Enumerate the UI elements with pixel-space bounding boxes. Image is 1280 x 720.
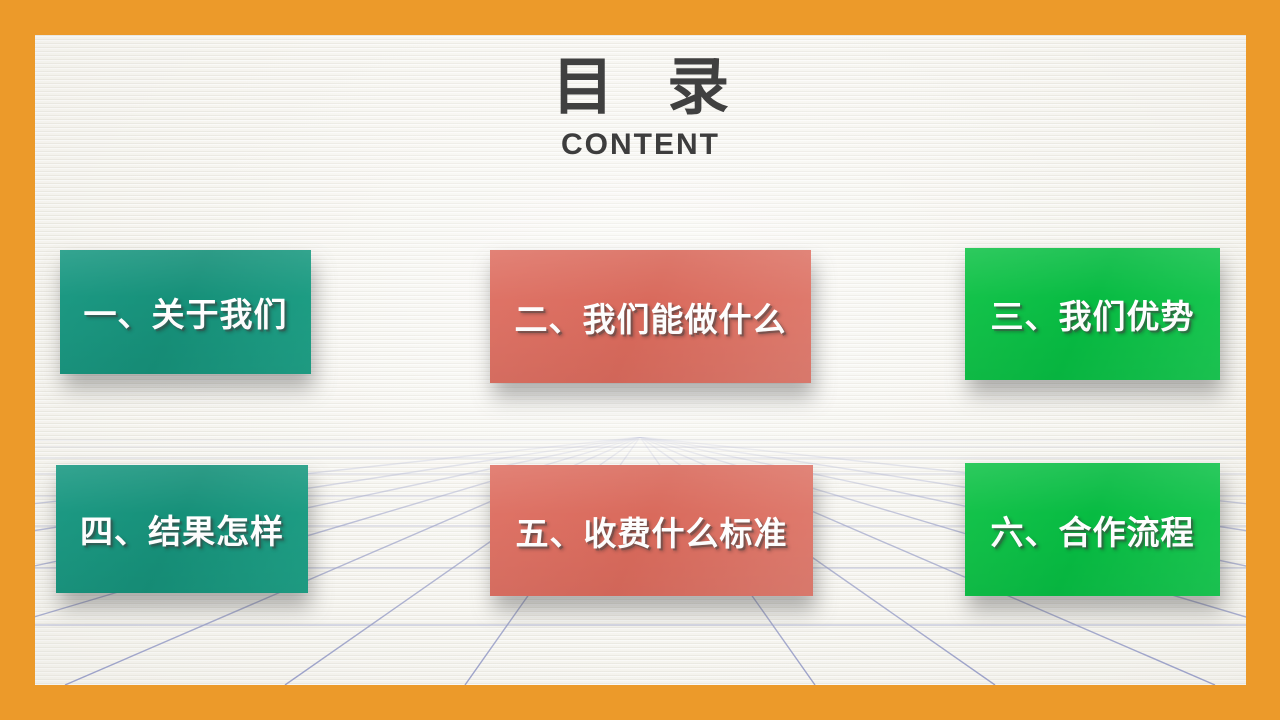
content-card-6[interactable]: 六、合作流程	[965, 463, 1220, 596]
slide-canvas: 目 录 CONTENT 一、关于我们 二、我们能做什么 三、我们优势 四、结果怎…	[35, 35, 1246, 685]
content-card-1[interactable]: 一、关于我们	[60, 250, 311, 374]
content-card-6-label: 六、合作流程	[991, 506, 1195, 554]
content-card-1-label: 一、关于我们	[84, 288, 288, 336]
content-card-2[interactable]: 二、我们能做什么	[490, 250, 811, 383]
content-card-3-label: 三、我们优势	[991, 290, 1195, 338]
page-title: 目 录	[35, 55, 1246, 120]
content-card-4[interactable]: 四、结果怎样	[56, 465, 308, 593]
content-card-5-label: 五、收费什么标准	[516, 507, 788, 555]
title-block: 目 录 CONTENT	[35, 55, 1246, 162]
slide-root: 目 录 CONTENT 一、关于我们 二、我们能做什么 三、我们优势 四、结果怎…	[0, 0, 1280, 720]
content-card-4-label: 四、结果怎样	[80, 505, 284, 553]
content-card-3[interactable]: 三、我们优势	[965, 248, 1220, 380]
content-card-5[interactable]: 五、收费什么标准	[490, 465, 813, 596]
content-card-2-label: 二、我们能做什么	[515, 293, 787, 341]
page-subtitle: CONTENT	[35, 128, 1246, 162]
